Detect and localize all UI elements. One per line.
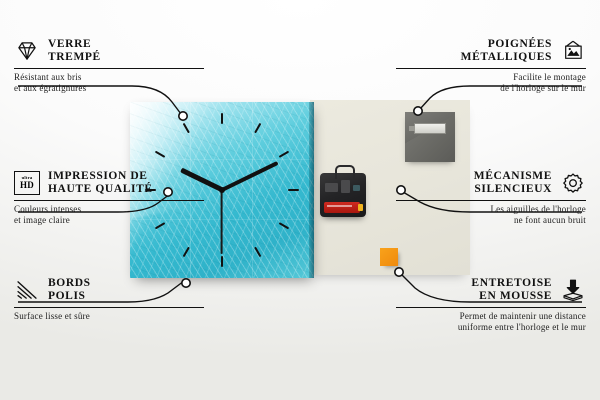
callout-rule: [396, 200, 586, 201]
callout-subtitle: et aux égratignures: [14, 83, 204, 94]
callout-subtitle: Permet de maintenir une distance: [396, 311, 586, 322]
clock-glass-edge: [309, 102, 314, 278]
wall-mount-picture-icon: [560, 39, 586, 63]
callout-title: VERRE: [48, 38, 101, 51]
callout-title: POIGNÉES: [461, 38, 552, 51]
callout-rule: [14, 200, 204, 201]
ultra-hd-icon-main: HD: [20, 181, 34, 190]
callout-title: BORDS: [48, 277, 91, 290]
callout-rule: [396, 307, 586, 308]
hanger-plate: [405, 112, 455, 162]
second-hand: [221, 190, 223, 254]
callout-subtitle: Couleurs intenses: [14, 204, 204, 215]
mechanism-detail: [325, 183, 338, 192]
callout-title: IMPRESSION DE: [48, 170, 153, 183]
gear-icon: [560, 171, 586, 195]
ultra-hd-icon: ultra HD: [14, 171, 40, 195]
minute-hand: [221, 161, 278, 192]
callout-impression-haute-qualite: ultra HD IMPRESSION DE HAUTE QUALITÉ Cou…: [14, 170, 204, 226]
callout-rule: [396, 68, 586, 69]
callout-subtitle: et image claire: [14, 215, 204, 226]
callout-entretoise-en-mousse: ENTRETOISE EN MOUSSE Permet de maintenir…: [396, 277, 586, 333]
callout-rule: [14, 68, 204, 69]
mechanism-detail: [341, 180, 350, 193]
callout-subtitle: de l'horloge sur le mur: [396, 83, 586, 94]
mechanism-loop: [335, 165, 355, 179]
callout-title: HAUTE QUALITÉ: [48, 183, 153, 196]
infographic-canvas: VERRE TREMPÉ Résistant aux bris et aux é…: [0, 0, 600, 400]
clock-mechanism: [320, 173, 366, 217]
callout-title: POLIS: [48, 290, 91, 303]
diamond-icon: [14, 39, 40, 63]
callout-mecanisme-silencieux: MÉCANISME SILENCIEUX Les aiguilles de l'…: [396, 170, 586, 226]
callout-title: TREMPÉ: [48, 51, 101, 64]
callout-title: ENTRETOISE: [471, 277, 552, 290]
press-down-pad-icon: [560, 278, 586, 302]
battery: [324, 202, 360, 213]
callout-bords-polis: BORDS POLIS Surface lisse et sûre: [14, 277, 204, 322]
clock-center-cap: [219, 187, 225, 193]
callout-title: SILENCIEUX: [474, 183, 552, 196]
callout-subtitle: ne font aucun bruit: [396, 215, 586, 226]
callout-subtitle: Résistant aux bris: [14, 72, 204, 83]
callout-verre-trempe: VERRE TREMPÉ Résistant aux bris et aux é…: [14, 38, 204, 94]
callout-subtitle: uniforme entre l'horloge et le mur: [396, 322, 586, 333]
callout-rule: [14, 307, 204, 308]
callout-subtitle: Surface lisse et sûre: [14, 311, 204, 322]
hanger-slot: [414, 123, 446, 134]
callout-subtitle: Facilite le montage: [396, 72, 586, 83]
callout-title: MÉTALLIQUES: [461, 51, 552, 64]
callout-title: MÉCANISME: [474, 170, 552, 183]
foam-spacer: [380, 248, 398, 266]
callout-title: EN MOUSSE: [471, 290, 552, 303]
callout-subtitle: Les aiguilles de l'horloge: [396, 204, 586, 215]
polished-edges-icon: [14, 278, 40, 302]
callout-poignees-metalliques: POIGNÉES MÉTALLIQUES Facilite le montage…: [396, 38, 586, 94]
mechanism-detail: [353, 185, 360, 191]
